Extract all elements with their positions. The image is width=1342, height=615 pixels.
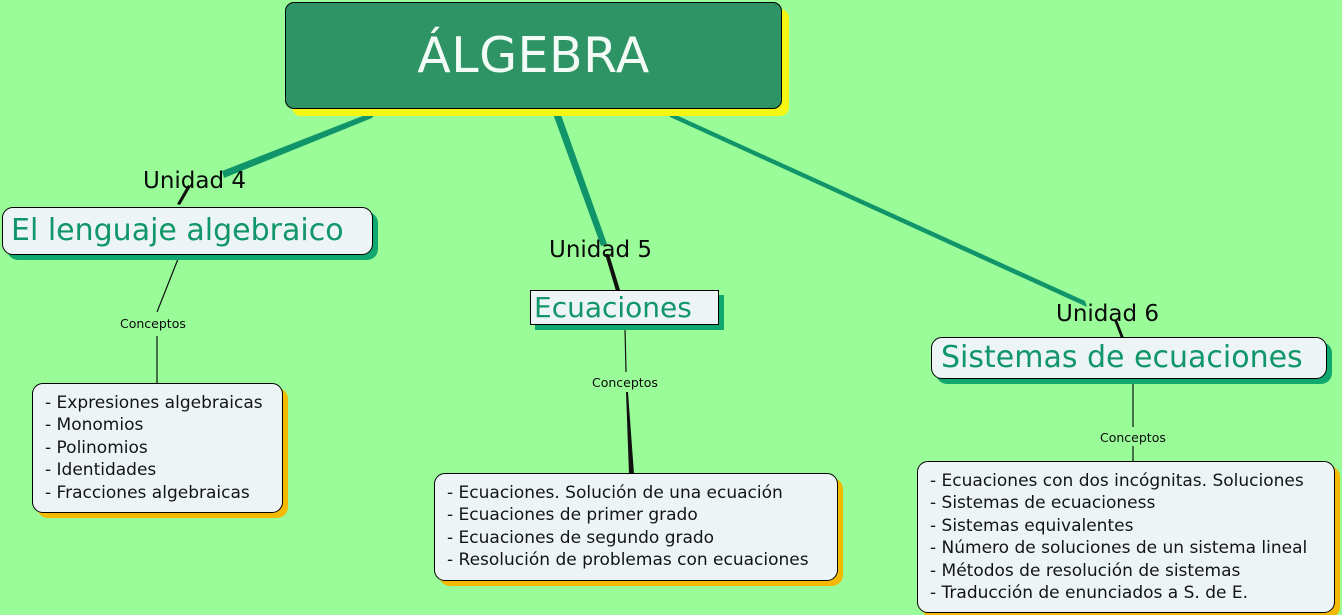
topic-node-label: Ecuaciones — [534, 294, 692, 322]
edge-caption-conceptos-1: Conceptos — [120, 318, 186, 331]
branch-line-unit6 — [665, 110, 1087, 307]
list-item: - Sistemas equivalentes — [930, 515, 1323, 537]
list-item: - Fracciones algebraicas — [45, 482, 271, 504]
list-item: - Traducción de enunciados a S. de E. — [930, 582, 1323, 604]
branch-line-unit5 — [552, 111, 607, 246]
list-item: - Ecuaciones. Solución de una ecuación — [447, 482, 826, 504]
connector-topic2-caption — [625, 328, 626, 372]
concept-list-unidad-4[interactable]: - Expresiones algebraicas - Monomios - P… — [32, 383, 283, 513]
list-item: - Sistemas de ecuacioness — [930, 492, 1323, 514]
topic-node-ecuaciones[interactable]: Ecuaciones — [530, 290, 719, 325]
list-item: - Identidades — [45, 459, 271, 481]
root-node-label: ÁLGEBRA — [417, 31, 649, 80]
list-item: - Número de soluciones de un sistema lin… — [930, 537, 1323, 559]
concept-list-unidad-6[interactable]: - Ecuaciones con dos incógnitas. Solucio… — [917, 461, 1335, 613]
list-item: - Monomios — [45, 414, 271, 436]
list-item: - Resolución de problemas con ecuaciones — [447, 549, 826, 571]
concept-list-unidad-5[interactable]: - Ecuaciones. Solución de una ecuación -… — [434, 473, 838, 581]
connector-caption2-list — [626, 392, 634, 474]
edge-caption-conceptos-3: Conceptos — [1100, 432, 1166, 445]
unit-label-6: Unidad 6 — [1056, 303, 1159, 326]
topic-node-sistemas-de-ecuaciones[interactable]: Sistemas de ecuaciones — [931, 337, 1327, 379]
list-item: - Ecuaciones con dos incógnitas. Solucio… — [930, 470, 1323, 492]
topic-node-label: El lenguaje algebraico — [11, 216, 344, 246]
topic-node-lenguaje-algebraico[interactable]: El lenguaje algebraico — [2, 207, 373, 255]
unit-label-5: Unidad 5 — [549, 239, 652, 262]
list-item: - Ecuaciones de segundo grado — [447, 527, 826, 549]
mindmap-canvas: ÁLGEBRA Unidad 4 El lenguaje algebraico … — [0, 0, 1342, 615]
unit-label-4: Unidad 4 — [143, 170, 246, 193]
connector-topic1-caption — [157, 259, 178, 312]
edge-caption-conceptos-2: Conceptos — [592, 377, 658, 390]
root-node[interactable]: ÁLGEBRA — [285, 2, 782, 109]
list-item: - Polinomios — [45, 437, 271, 459]
list-item: - Métodos de resolución de sistemas — [930, 560, 1323, 582]
list-item: - Expresiones algebraicas — [45, 392, 271, 414]
topic-node-label: Sistemas de ecuaciones — [941, 343, 1303, 373]
list-item: - Ecuaciones de primer grado — [447, 504, 826, 526]
